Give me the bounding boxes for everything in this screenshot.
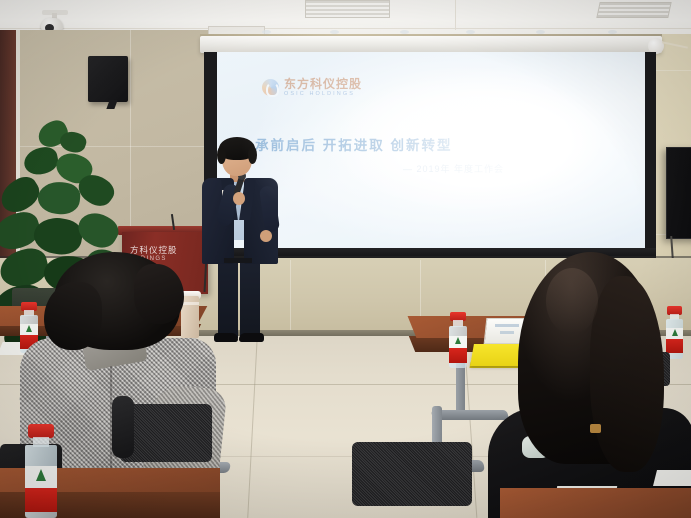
slide-subtitle: — 2019年 年度工作会 — [403, 162, 643, 175]
projector-screen-housing — [200, 36, 662, 53]
osic-logo-icon — [262, 79, 279, 96]
audience-hair-side — [134, 264, 184, 324]
slide-logo-english: OSIC HOLDINGS — [284, 92, 362, 98]
ceiling-vent-icon — [305, 0, 390, 18]
slide-slogan: 承前启后 开拓进取 创新转型 — [255, 134, 645, 154]
audience-hair-side — [44, 282, 102, 350]
audience-hair-strand — [590, 276, 664, 472]
desk-front-right — [500, 488, 691, 518]
ceiling-seam — [0, 28, 691, 29]
slide-logo-chinese: 东方科仪控股 — [284, 78, 362, 90]
presenter-leg-right — [240, 260, 260, 338]
presenter-hair-side — [217, 146, 226, 164]
ceiling-vent-icon — [596, 2, 671, 18]
paper-sheet — [653, 470, 691, 486]
wall-monitor-icon[interactable] — [666, 147, 691, 239]
conference-room-photo: 东方科仪控股 OSIC HOLDINGS 承前启后 开拓进取 创新转型 — 20… — [0, 0, 691, 518]
slide-logo: 东方科仪控股 OSIC HOLDINGS — [262, 78, 362, 98]
presenter-hand-left — [233, 192, 245, 205]
wall-speaker-icon — [88, 56, 128, 102]
hair-clip-icon — [590, 424, 601, 433]
presenter-hair-side — [248, 146, 257, 164]
presenter-hand-right — [260, 230, 272, 242]
chair-armrest[interactable] — [112, 396, 134, 458]
ceiling-seam — [455, 0, 456, 30]
presenter-belt — [224, 258, 252, 263]
presenter-shoe-right — [239, 333, 264, 342]
chair-back[interactable] — [352, 442, 472, 506]
audience-hair-highlight — [546, 268, 598, 334]
